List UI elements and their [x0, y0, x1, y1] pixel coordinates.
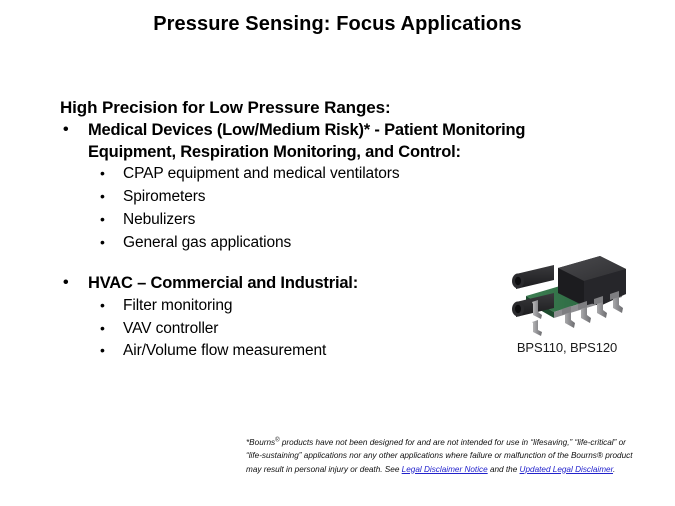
- product-caption: BPS110, BPS120: [497, 340, 637, 355]
- disclaimer-text-a: *Bourns: [246, 438, 275, 447]
- product-figure: BPS110, BPS120: [497, 252, 637, 355]
- bullet-item-medical-heading-cont: Equipment, Respiration Monitoring, and C…: [60, 142, 620, 163]
- list-item: • Spirometers: [60, 186, 620, 209]
- list-item-label: Filter monitoring: [123, 297, 232, 314]
- bullet-label-line2: Equipment, Respiration Monitoring, and C…: [88, 143, 461, 161]
- bullet-marker-icon: •: [100, 163, 105, 184]
- list-item: • CPAP equipment and medical ventilators: [60, 163, 620, 186]
- list-item-label: CPAP equipment and medical ventilators: [123, 165, 400, 182]
- list-item-label: General gas applications: [123, 234, 291, 251]
- bullet-marker-icon: •: [63, 120, 68, 141]
- list-item-label: Spirometers: [123, 188, 205, 205]
- list-item-label: Air/Volume flow measurement: [123, 342, 326, 359]
- bullet-marker-icon: •: [100, 186, 105, 207]
- legal-disclaimer: *Bourns® products have not been designed…: [246, 436, 638, 476]
- bullet-marker-icon: •: [63, 273, 68, 294]
- bullet-item-medical-heading: • Medical Devices (Low/Medium Risk)* - P…: [60, 120, 620, 141]
- bullet-group-medical: • Medical Devices (Low/Medium Risk)* - P…: [60, 120, 620, 254]
- slide-canvas: Pressure Sensing: Focus Applications Hig…: [0, 0, 675, 506]
- section-heading: High Precision for Low Pressure Ranges:: [60, 97, 620, 119]
- bullet-marker-icon: •: [100, 295, 105, 316]
- page-title: Pressure Sensing: Focus Applications: [0, 13, 675, 36]
- list-item-label: Nebulizers: [123, 211, 195, 228]
- disclaimer-text-end: .: [613, 465, 615, 474]
- updated-legal-disclaimer-link[interactable]: Updated Legal Disclaimer: [520, 465, 613, 474]
- bullet-marker-icon: •: [100, 340, 105, 361]
- bullet-marker-icon: •: [100, 232, 105, 253]
- legal-disclaimer-notice-link[interactable]: Legal Disclaimer Notice: [402, 465, 488, 474]
- bullet-label-line1: Medical Devices (Low/Medium Risk)* - Pat…: [88, 121, 525, 139]
- pressure-sensor-photo: [502, 252, 632, 336]
- list-item-label: VAV controller: [123, 320, 218, 337]
- disclaimer-text-mid: and the: [488, 465, 520, 474]
- bullet-marker-icon: •: [100, 318, 105, 339]
- bullet-label-line1: HVAC – Commercial and Industrial:: [88, 274, 358, 292]
- list-item: • Nebulizers: [60, 209, 620, 232]
- bullet-marker-icon: •: [100, 209, 105, 230]
